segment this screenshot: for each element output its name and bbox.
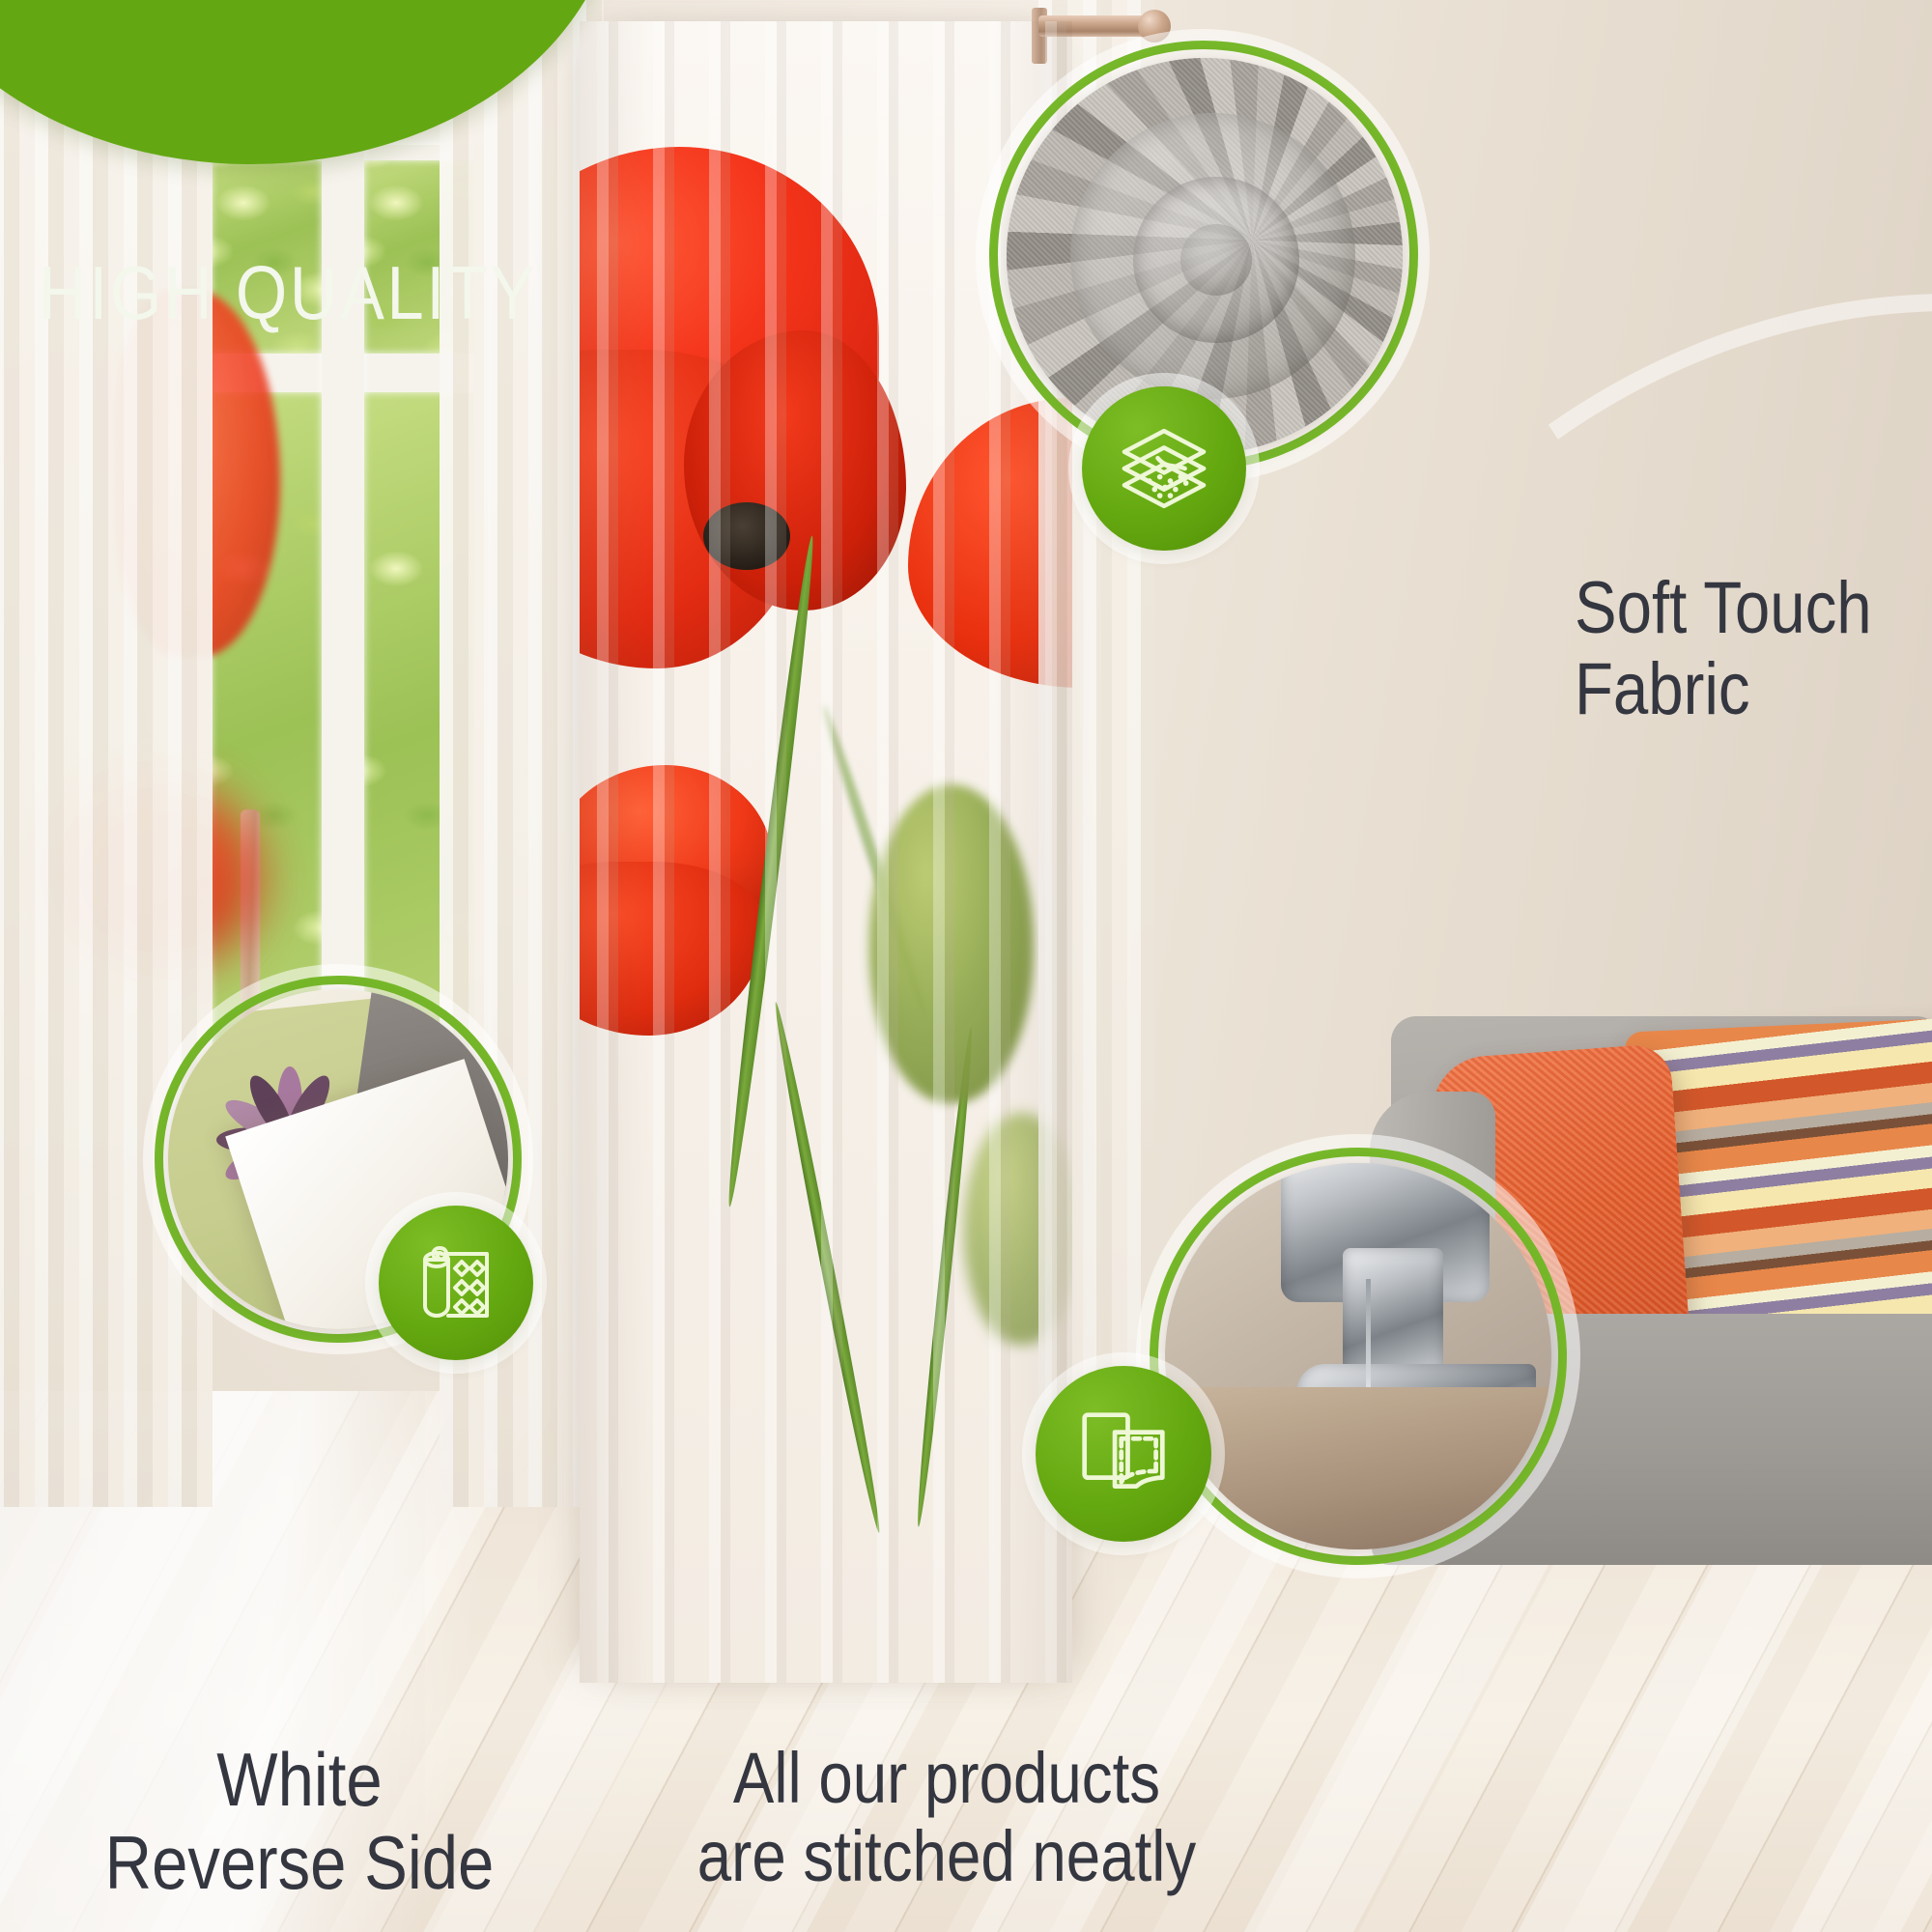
neat-stitching-caption: All our products are stitched neatly xyxy=(647,1739,1245,1896)
folded-grey-fabric-swirl-photo xyxy=(1007,58,1403,454)
high-quality-label: HIGH QUALITY xyxy=(39,249,537,337)
poppy-bud xyxy=(869,784,1034,1103)
neat-stitching-caption-line2: are stitched neatly xyxy=(647,1817,1245,1895)
sewing-machine-photo xyxy=(1165,1163,1551,1549)
soft-touch-caption: Soft Touch Fabric xyxy=(1575,568,1872,729)
poppy-stem xyxy=(770,1001,886,1534)
feature-soft-touch xyxy=(966,19,1584,657)
feature-white-reverse xyxy=(135,956,676,1555)
feature-neat-stitching xyxy=(1082,1121,1662,1719)
white-reverse-caption: White Reverse Side xyxy=(42,1739,556,1905)
neat-stitching-caption-line1: All our products xyxy=(647,1739,1245,1817)
white-reverse-caption-line1: White xyxy=(42,1739,556,1822)
stitched-panels-icon xyxy=(1036,1366,1211,1542)
soft-touch-caption-line1: Soft Touch xyxy=(1575,568,1872,649)
fabric-roll-icon xyxy=(379,1206,533,1360)
product-feature-banner: HIGH QUALITY xyxy=(0,0,1932,1932)
fabric-layers-icon xyxy=(1082,386,1246,551)
soft-touch-caption-line2: Fabric xyxy=(1575,649,1872,730)
white-reverse-caption-line2: Reverse Side xyxy=(42,1822,556,1905)
